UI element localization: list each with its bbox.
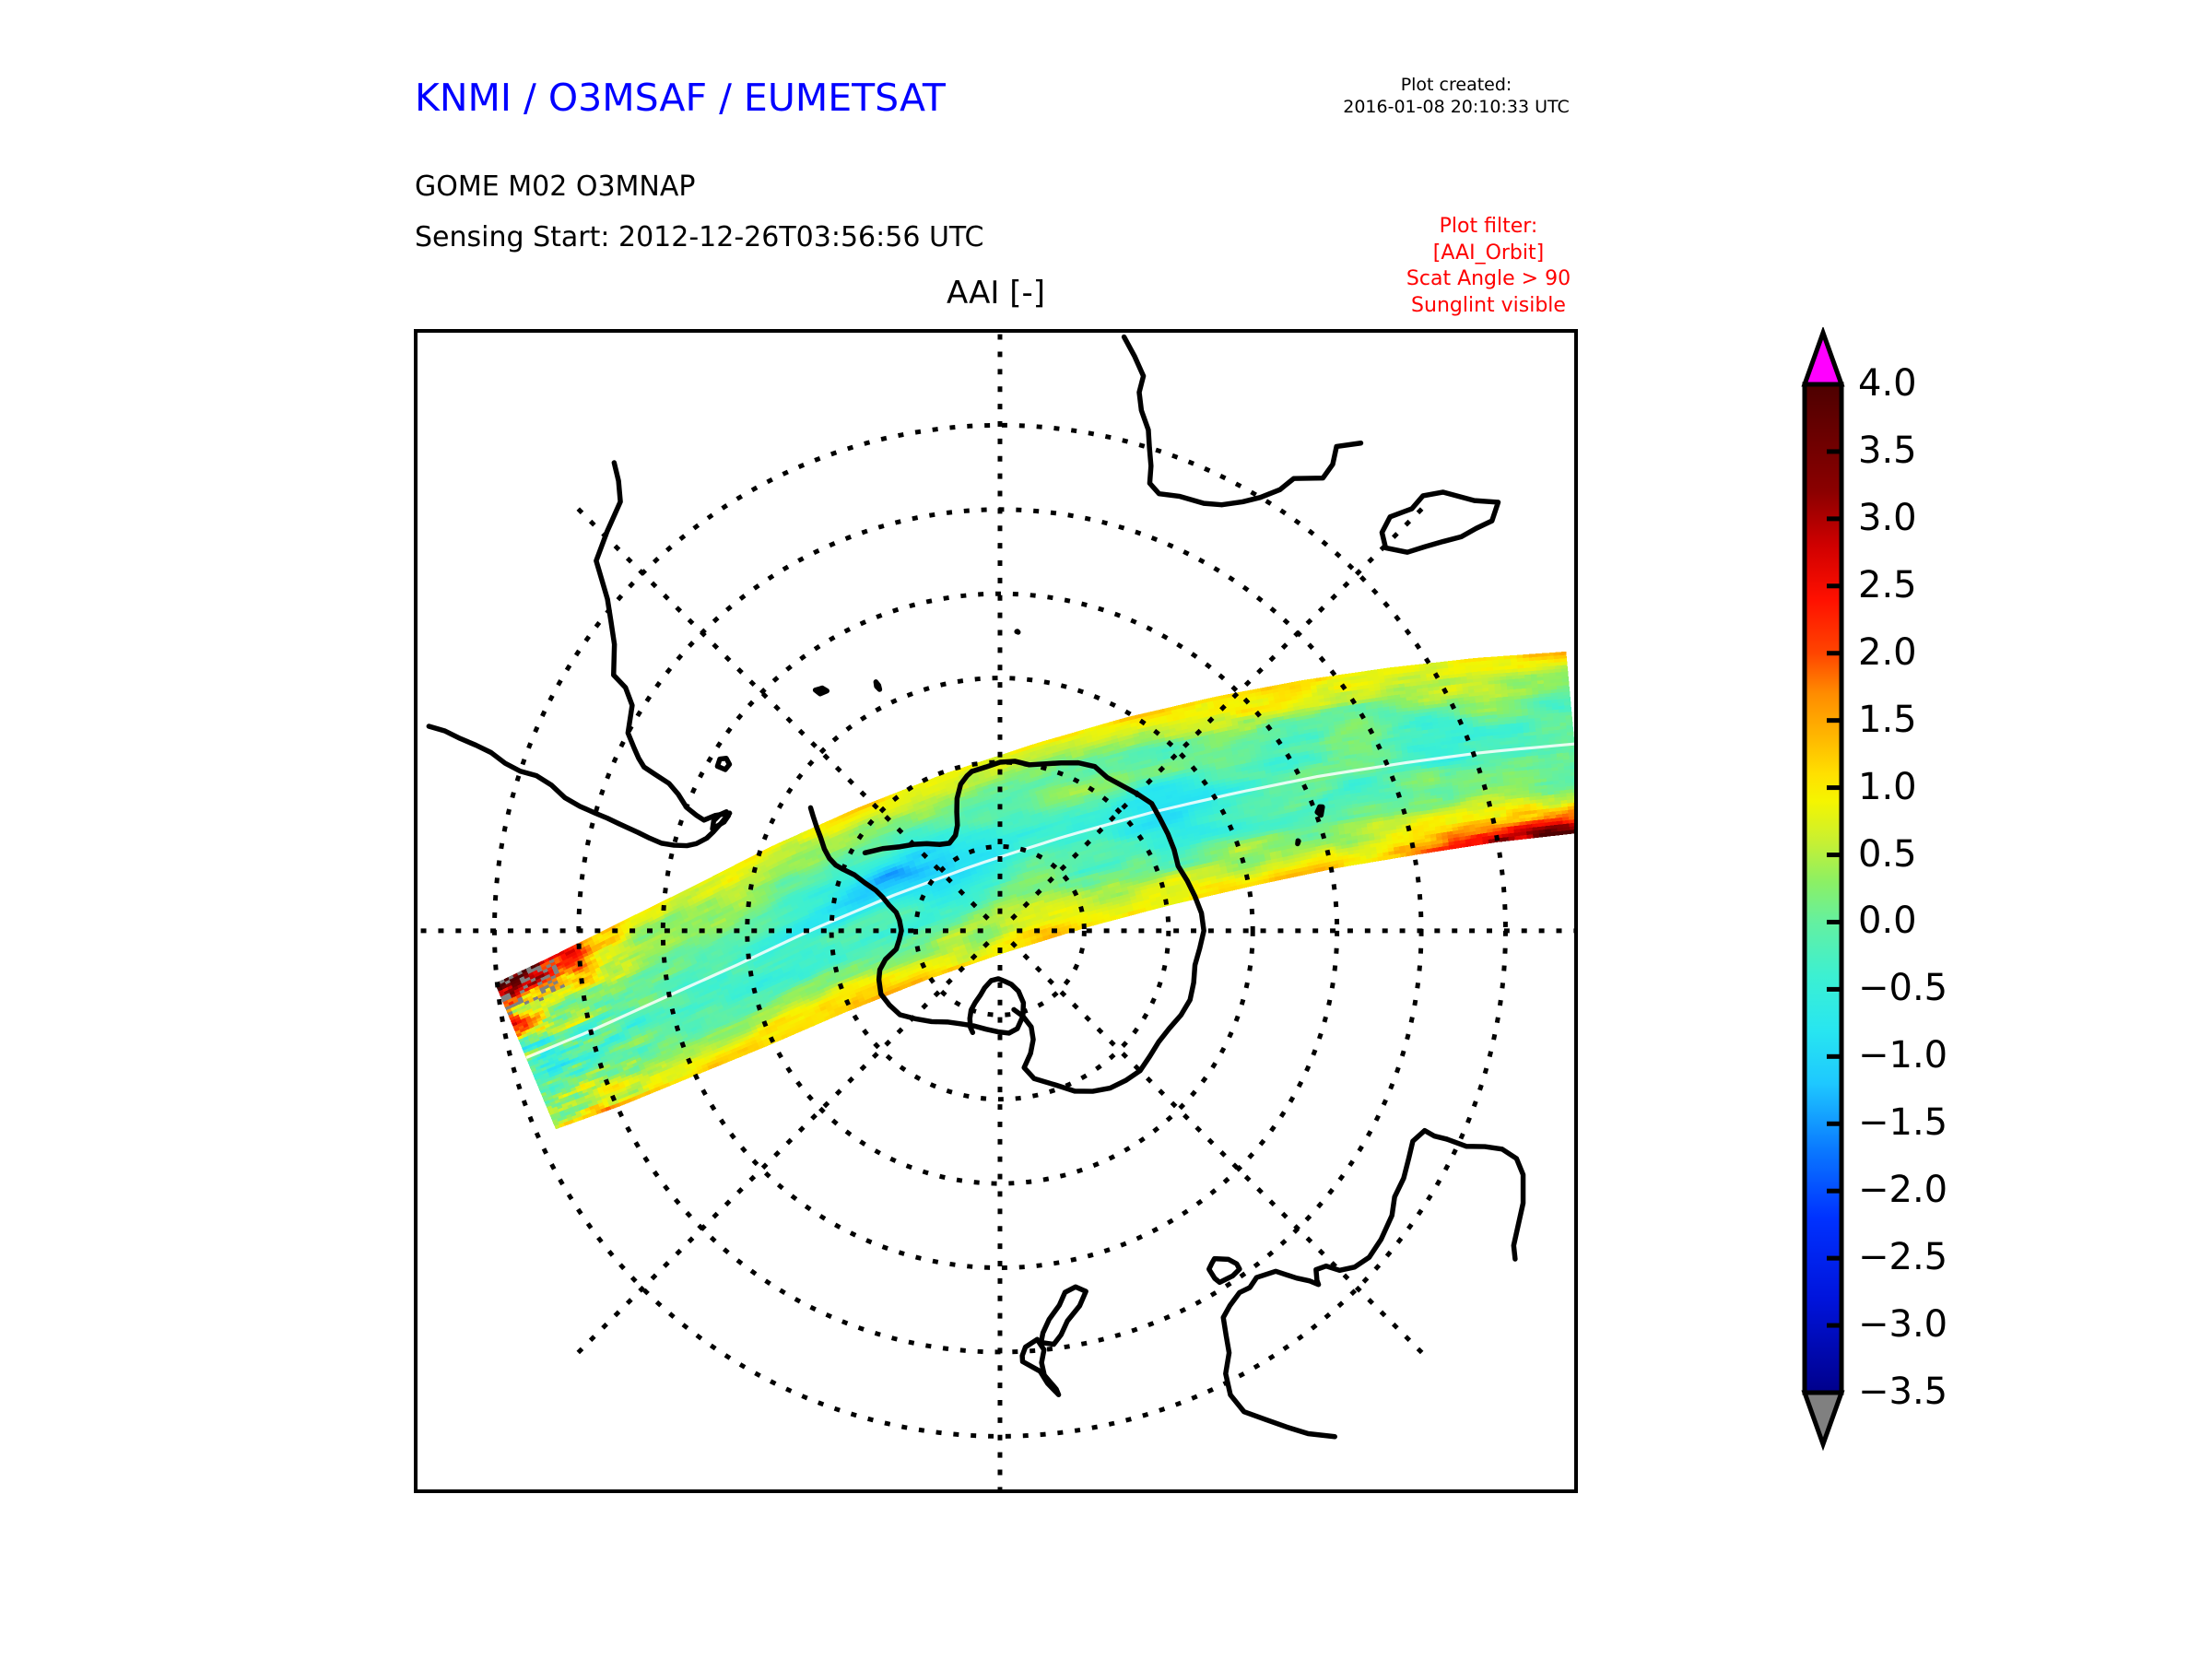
sensing-start: Sensing Start: 2012-12-26T03:56:56 UTC	[415, 221, 983, 253]
filter-line-3: Scat Angle > 90	[1355, 266, 1622, 293]
organization-title: KNMI / O3MSAF / EUMETSAT	[415, 76, 946, 120]
colorbar-tick-label: 0.5	[1858, 836, 1917, 873]
colorbar-tick-label: 4.0	[1858, 365, 1917, 402]
filter-line-4: Sunglint visible	[1355, 293, 1622, 320]
colorbar-tick-label: −0.5	[1858, 970, 1947, 1006]
colorbar-tick-label: 3.5	[1858, 432, 1917, 469]
colorbar-tick-label: 2.0	[1858, 634, 1917, 671]
colorbar-tick-label: −3.5	[1858, 1373, 1947, 1410]
colorbar-tick-label: 0.0	[1858, 902, 1917, 939]
colorbar-svg	[1797, 327, 2184, 1488]
filter-line-1: Plot filter:	[1355, 214, 1622, 241]
polar-map	[418, 333, 1574, 1489]
filter-line-2: [AAI_Orbit]	[1355, 241, 1622, 267]
plot-created-value: 2016-01-08 20:10:33 UTC	[1290, 96, 1622, 118]
colorbar-tick-label: −1.5	[1858, 1104, 1947, 1141]
data-swath	[495, 652, 1574, 1129]
colorbar-tick-label: 1.0	[1858, 769, 1917, 806]
colorbar-tick-label: 1.5	[1858, 701, 1917, 738]
colorbar-tick-label: −2.5	[1858, 1239, 1947, 1276]
colorbar: 4.03.53.02.52.01.51.00.50.0−0.5−1.0−1.5−…	[1797, 327, 2184, 1488]
plot-created-label: Plot created:	[1290, 74, 1622, 96]
colorbar-tick-label: 2.5	[1858, 567, 1917, 604]
colorbar-tick-label: −1.0	[1858, 1037, 1947, 1074]
colorbar-tick-label: −2.0	[1858, 1171, 1947, 1208]
map-plot-area	[414, 329, 1578, 1493]
plot-filter-block: Plot filter: [AAI_Orbit] Scat Angle > 90…	[1355, 214, 1622, 319]
dataset-name: GOME M02 O3MNAP	[415, 171, 695, 203]
colorbar-tick-label: 3.0	[1858, 500, 1917, 536]
colorbar-body	[1805, 333, 1841, 1444]
plot-created-block: Plot created: 2016-01-08 20:10:33 UTC	[1290, 74, 1622, 119]
colorbar-tick-label: −3.0	[1858, 1306, 1947, 1343]
plot-page: KNMI / O3MSAF / EUMETSAT Plot created: 2…	[0, 0, 2212, 1659]
